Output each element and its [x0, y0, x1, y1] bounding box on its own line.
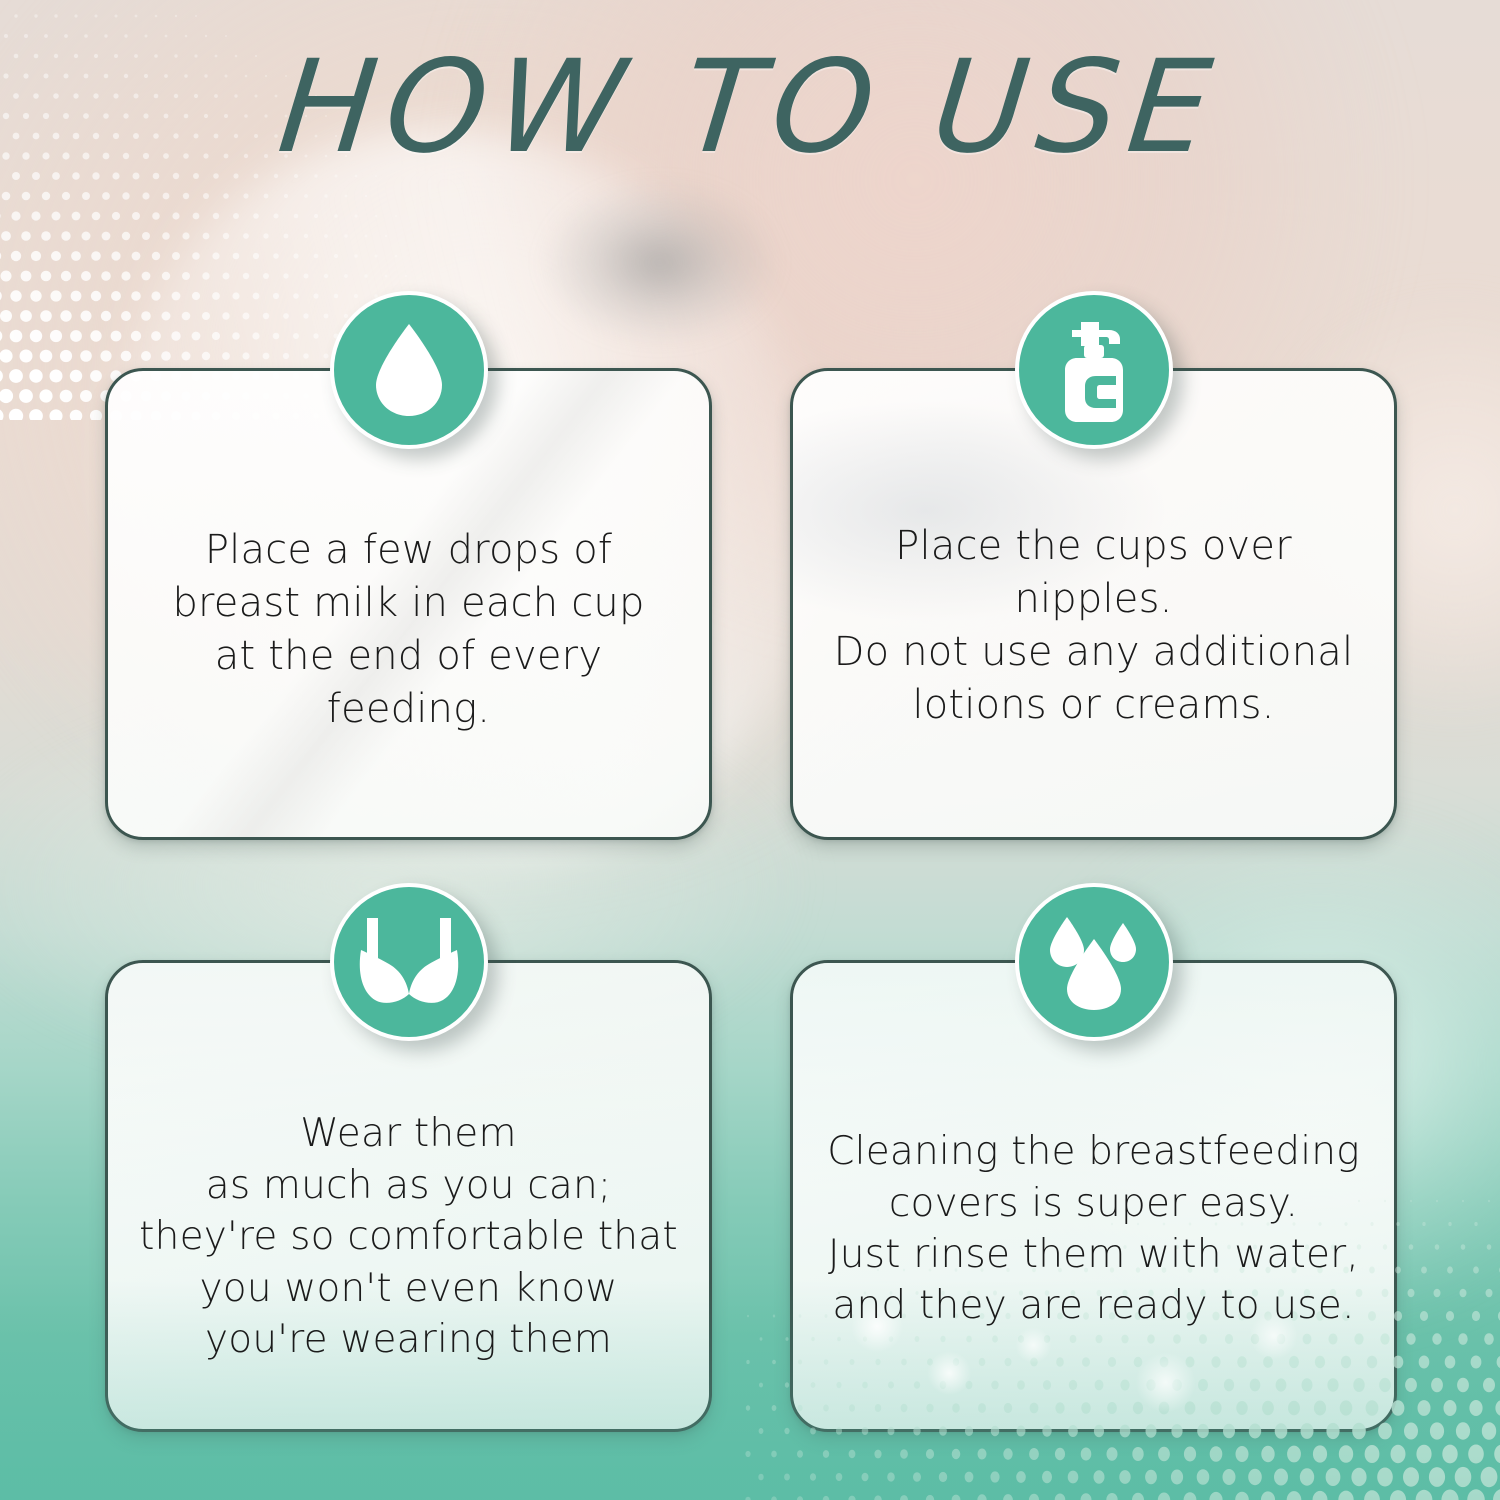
step-badge-3	[330, 883, 488, 1041]
lotion-pump-bottle-icon	[1051, 318, 1137, 422]
step-badge-4	[1015, 883, 1173, 1041]
step-badge-1	[330, 291, 488, 449]
infographic-canvas: HOW TO USE Place a few drops of breast m…	[0, 0, 1500, 1500]
step-text-4: Cleaning the breastfeeding covers is sup…	[815, 1126, 1372, 1332]
card-inner-1: Place a few drops of breast milk in each…	[108, 472, 709, 735]
card-inner-2: Place the cups over nipples. Do not use …	[793, 476, 1394, 731]
card-inner-4: Cleaning the breastfeeding covers is sup…	[793, 1060, 1394, 1332]
bra-icon	[355, 916, 463, 1008]
card-inner-3: Wear them as much as you can; they're so…	[108, 1026, 709, 1365]
water-drop-icon	[370, 322, 448, 418]
step-text-2: Place the cups over nipples. Do not use …	[815, 520, 1372, 731]
step-text-1: Place a few drops of breast milk in each…	[130, 524, 687, 735]
water-droplets-icon	[1044, 913, 1144, 1011]
step-text-3: Wear them as much as you can; they're so…	[130, 1108, 687, 1365]
page-title: HOW TO USE	[0, 32, 1500, 183]
background-blur-smudge-left	[540, 180, 780, 345]
step-badge-2	[1015, 291, 1173, 449]
